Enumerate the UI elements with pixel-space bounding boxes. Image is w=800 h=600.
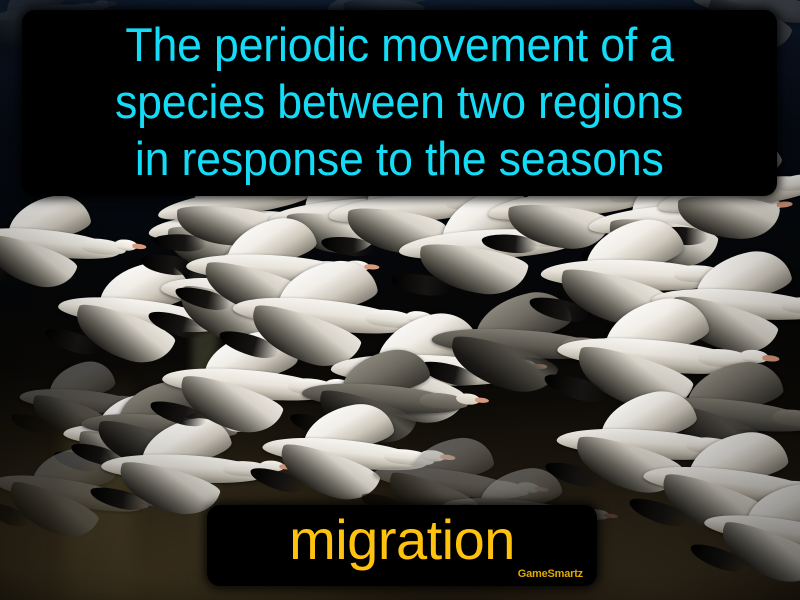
definition-panel: The periodic movement of a species betwe… [22,10,777,196]
watermark-label: GameSmartz [518,568,583,580]
definition-line-1: The periodic movement of a [125,16,674,73]
term-label: migration [207,507,597,573]
flashcard: The periodic movement of a species betwe… [0,0,800,600]
definition-line-3: in response to the seasons [135,130,664,187]
term-panel: migration GameSmartz [207,505,597,586]
definition-line-2: species between two regions [115,73,683,130]
